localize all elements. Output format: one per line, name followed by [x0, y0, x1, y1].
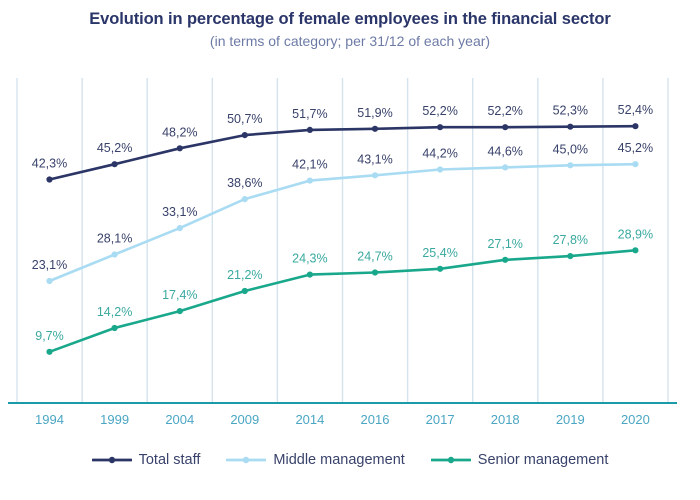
data-label: 52,3%: [553, 104, 588, 118]
chart-container: Evolution in percentage of female employ…: [0, 0, 700, 500]
chart-subtitle: (in terms of category; per 31/12 of each…: [0, 33, 700, 50]
data-point: [567, 253, 573, 259]
data-point: [177, 145, 183, 151]
legend-label: Total staff: [139, 452, 201, 468]
x-axis-tick-label: 1994: [35, 412, 64, 427]
legend-item-middle-management[interactable]: Middle management: [226, 452, 404, 468]
data-point: [177, 225, 183, 231]
data-point: [112, 325, 118, 331]
data-label: 17,4%: [162, 288, 197, 302]
x-axis-tick-label: 2004: [165, 412, 194, 427]
line-chart-svg: 42,3%45,2%48,2%50,7%51,7%51,9%52,2%52,2%…: [0, 62, 700, 500]
data-point: [437, 266, 443, 272]
data-label: 45,2%: [97, 141, 132, 155]
series-senior-management: 9,7%14,2%17,4%21,2%24,3%24,7%25,4%27,1%2…: [35, 227, 653, 355]
x-axis-tick-label: 2017: [426, 412, 455, 427]
x-axis-labels: 1994199920042009201420162017201820192020: [35, 412, 650, 427]
data-label: 28,9%: [618, 227, 653, 241]
x-axis-tick-label: 2009: [230, 412, 259, 427]
data-label: 52,2%: [487, 104, 522, 118]
data-point: [437, 124, 443, 130]
x-axis-tick-label: 2019: [556, 412, 585, 427]
legend-item-total-staff[interactable]: Total staff: [92, 452, 201, 468]
chart-legend: Total staffMiddle managementSenior manag…: [0, 452, 700, 468]
x-axis-tick-label: 2014: [295, 412, 324, 427]
data-label: 52,4%: [618, 103, 653, 117]
data-point: [242, 288, 248, 294]
data-point: [307, 178, 313, 184]
data-label: 42,1%: [292, 158, 327, 172]
data-label: 9,7%: [35, 329, 64, 343]
data-point: [242, 132, 248, 138]
data-label: 43,1%: [357, 152, 392, 166]
data-point: [177, 308, 183, 314]
data-point: [112, 251, 118, 257]
data-point: [372, 126, 378, 132]
legend-marker-icon: [92, 453, 132, 467]
data-point: [307, 272, 313, 278]
data-label: 45,2%: [618, 141, 653, 155]
data-point: [632, 161, 638, 167]
data-label: 50,7%: [227, 112, 262, 126]
data-point: [372, 269, 378, 275]
legend-item-senior-management[interactable]: Senior management: [431, 452, 609, 468]
data-point: [112, 161, 118, 167]
data-label: 27,8%: [553, 233, 588, 247]
data-label: 25,4%: [422, 246, 457, 260]
data-label: 24,3%: [292, 252, 327, 266]
data-point: [437, 166, 443, 172]
data-point: [567, 162, 573, 168]
legend-label: Middle management: [273, 452, 404, 468]
chart-header: Evolution in percentage of female employ…: [0, 0, 700, 50]
data-label: 38,6%: [227, 176, 262, 190]
data-label: 23,1%: [32, 258, 67, 272]
data-label: 51,9%: [357, 106, 392, 120]
data-label: 27,1%: [487, 237, 522, 251]
data-point: [502, 124, 508, 130]
data-label: 51,7%: [292, 107, 327, 121]
data-point: [46, 349, 52, 355]
data-label: 44,2%: [422, 147, 457, 161]
data-point: [502, 257, 508, 263]
x-axis-tick-label: 2020: [621, 412, 650, 427]
data-point: [46, 278, 52, 284]
data-point: [567, 124, 573, 130]
data-label: 33,1%: [162, 205, 197, 219]
data-point: [502, 164, 508, 170]
data-label: 48,2%: [162, 125, 197, 139]
data-label: 28,1%: [97, 232, 132, 246]
legend-marker-icon: [226, 453, 266, 467]
legend-marker-icon: [431, 453, 471, 467]
data-label: 52,2%: [422, 104, 457, 118]
data-label: 42,3%: [32, 157, 67, 171]
data-point: [632, 247, 638, 253]
x-axis-tick-label: 2016: [361, 412, 390, 427]
plot-area: 42,3%45,2%48,2%50,7%51,7%51,9%52,2%52,2%…: [0, 62, 700, 500]
chart-title: Evolution in percentage of female employ…: [0, 10, 700, 30]
data-point: [632, 123, 638, 129]
data-point: [372, 172, 378, 178]
data-point: [46, 176, 52, 182]
x-axis-tick-label: 2018: [491, 412, 520, 427]
data-label: 21,2%: [227, 268, 262, 282]
data-point: [242, 196, 248, 202]
data-label: 44,6%: [487, 144, 522, 158]
data-label: 24,7%: [357, 250, 392, 264]
x-axis-tick-label: 1999: [100, 412, 129, 427]
data-label: 45,0%: [553, 142, 588, 156]
data-label: 14,2%: [97, 305, 132, 319]
data-point: [307, 127, 313, 133]
legend-label: Senior management: [478, 452, 609, 468]
